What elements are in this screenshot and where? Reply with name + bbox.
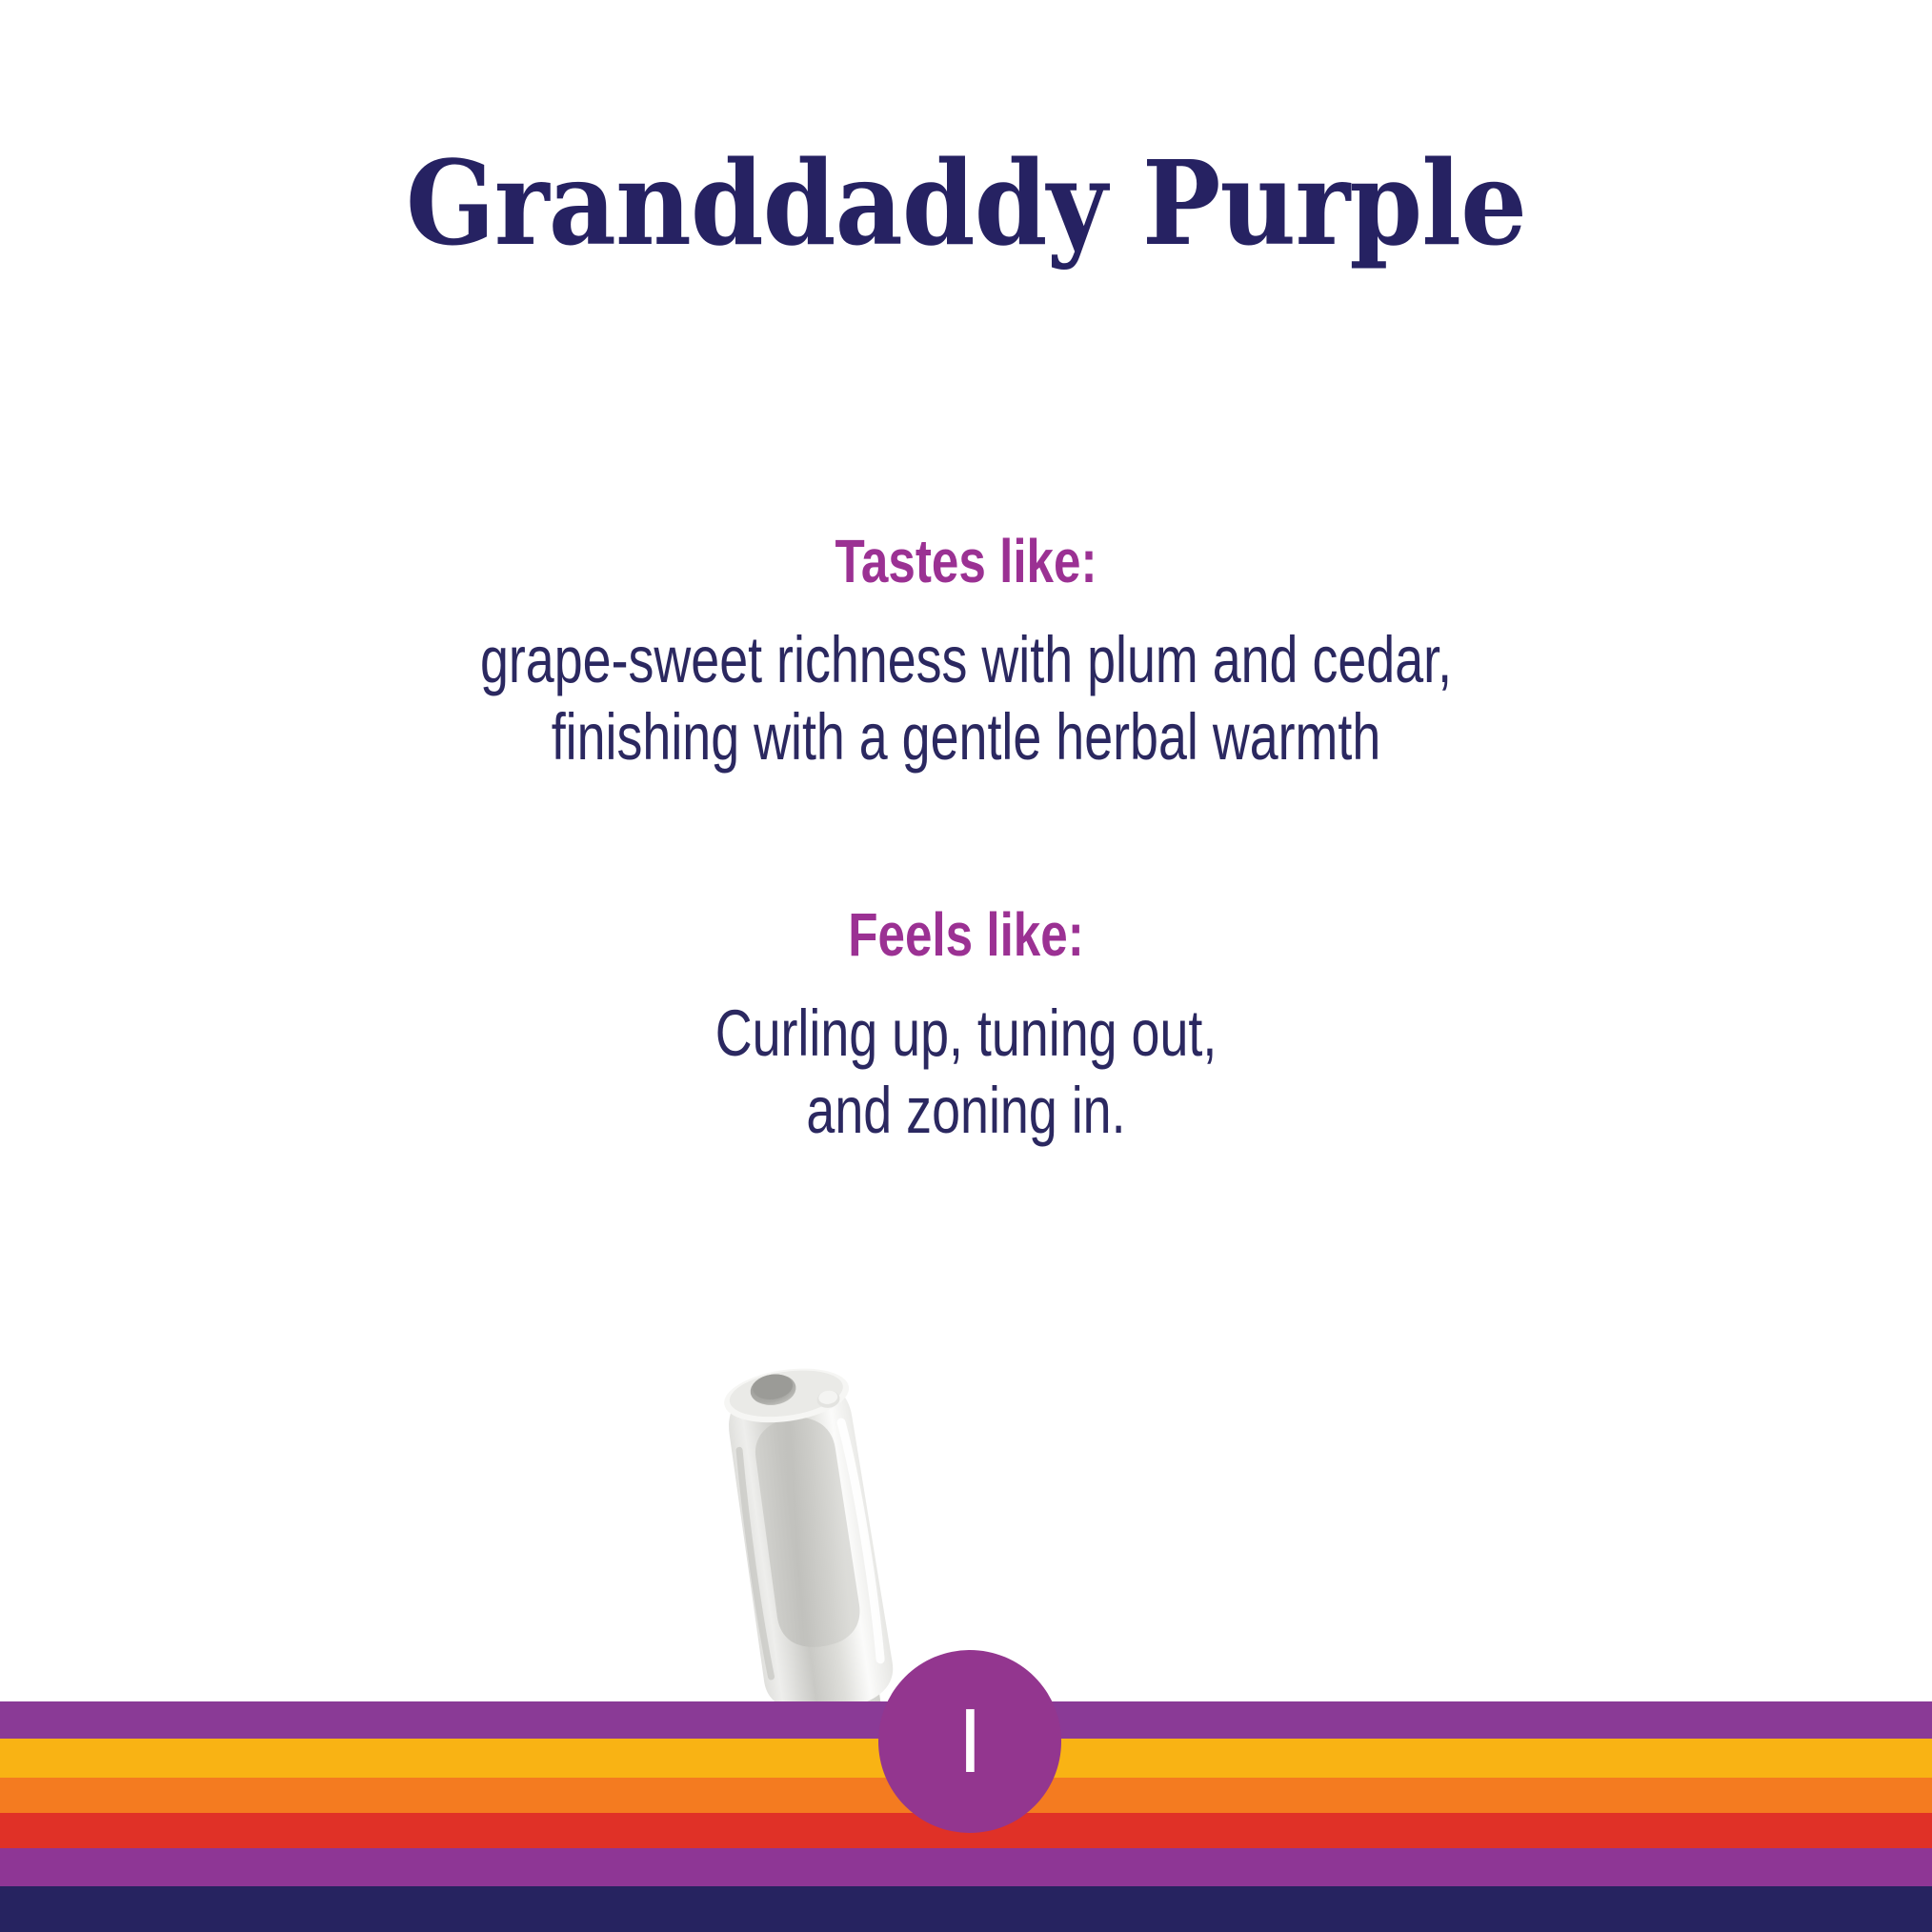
page-title: Granddaddy Purple: [96, 145, 1835, 261]
feels-like-line-1: Curling up, tuning out,: [212, 996, 1720, 1073]
feels-like-line-2: and zoning in.: [212, 1073, 1720, 1150]
tastes-like-line-2: finishing with a gentle herbal warmth: [212, 699, 1720, 776]
tastes-like-line-1: grape-sweet richness with plum and cedar…: [212, 622, 1720, 699]
feels-like-body: Curling up, tuning out, and zoning in.: [0, 996, 1932, 1149]
stripe-purple-bottom: [0, 1848, 1932, 1886]
mouthpiece-airhole: [749, 1372, 798, 1408]
tastes-like-section: Tastes like: grape-sweet richness with p…: [0, 530, 1932, 776]
tastes-like-heading: Tastes like:: [193, 530, 1739, 594]
feels-like-heading: Feels like:: [193, 903, 1739, 967]
strain-type-letter: I: [962, 1696, 978, 1787]
stripe-navy: [0, 1886, 1932, 1932]
mouthpiece-dimple: [815, 1389, 840, 1409]
cartridge-mouthpiece: [720, 1360, 897, 1720]
strain-type-badge: I: [878, 1650, 1061, 1833]
product-card: Granddaddy Purple Tastes like: grape-swe…: [0, 0, 1932, 1932]
feels-like-section: Feels like: Curling up, tuning out, and …: [0, 903, 1932, 1150]
tastes-like-body: grape-sweet richness with plum and cedar…: [0, 622, 1932, 775]
